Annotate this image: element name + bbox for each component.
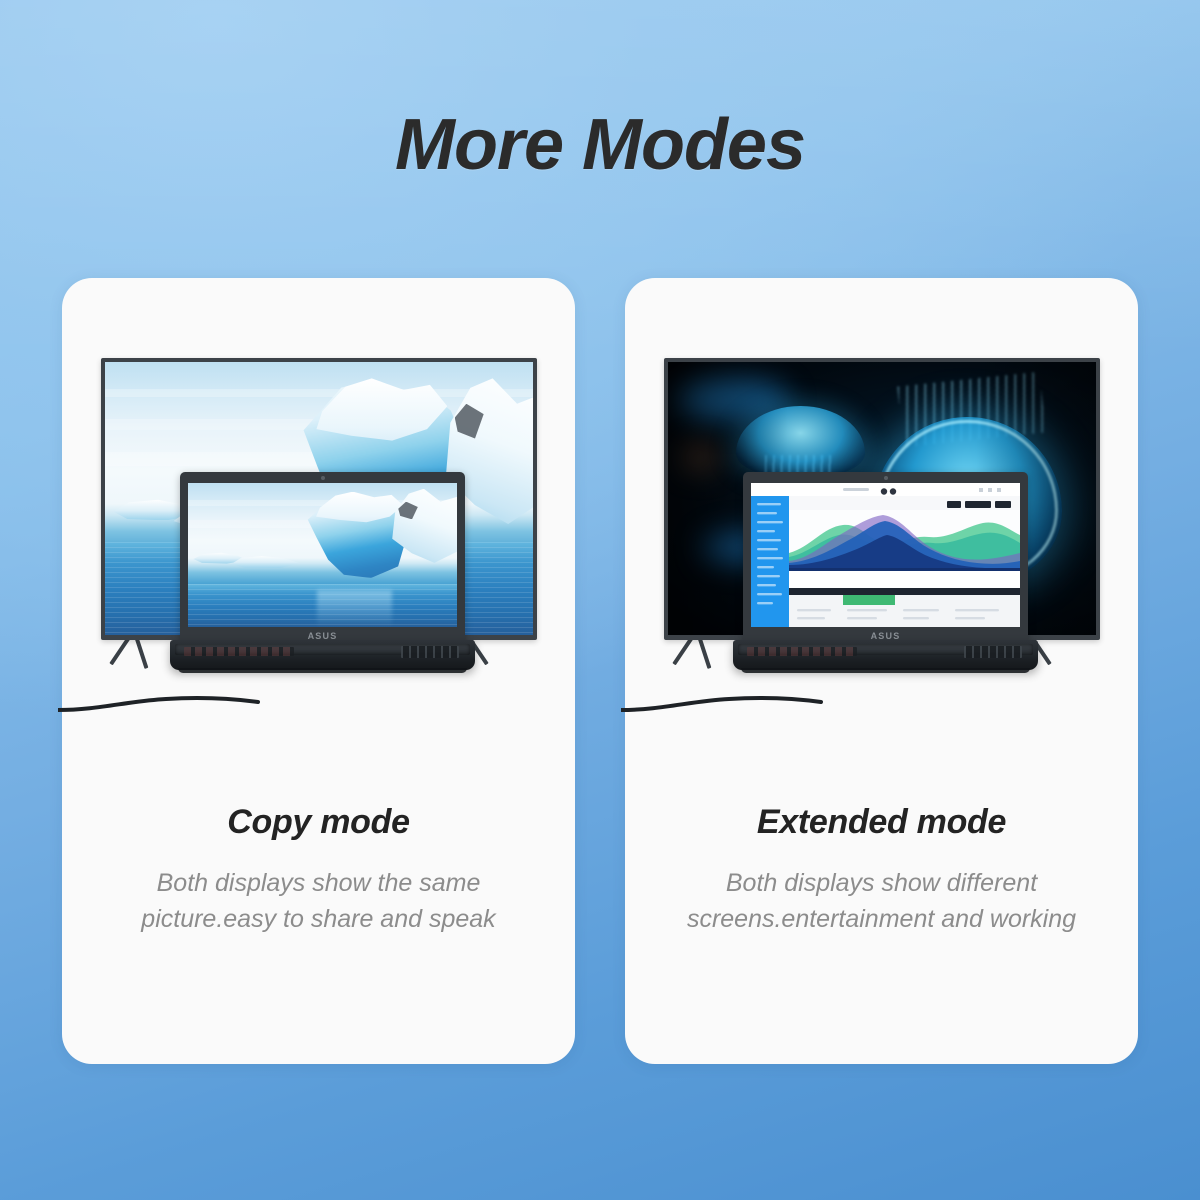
laptop-right: ASUS [733,472,1038,672]
laptop-base-right [733,640,1038,670]
webcam-icon [321,476,325,480]
laptop-lid-left: ASUS [180,472,465,644]
keyboard-area-right [747,647,857,656]
vent-grille-right [964,646,1022,658]
webcam-icon [884,476,888,480]
copy-mode-card[interactable]: ASUS Copy mode Both displays show the sa… [62,278,575,1064]
hdmi-cable-left [58,688,288,718]
hdmi-cable-right [621,688,851,718]
keyboard-area-left [184,647,294,656]
extended-mode-title: Extended mode [625,803,1138,842]
extended-mode-description: Both displays show different screens.ent… [625,866,1138,937]
laptop-lid-right: ASUS [743,472,1028,644]
extended-mode-card[interactable]: ASUS Extended mode Both displays show di… [625,278,1138,1064]
page-title: More Modes [0,104,1200,186]
extended-mode-illustration: ASUS [625,278,1138,778]
tv-leg-left-inner [134,635,148,669]
vent-grille-left [401,646,459,658]
copy-mode-description: Both displays show the same picture.easy… [62,866,575,937]
modes-card-row: ASUS Copy mode Both displays show the sa… [0,278,1200,1068]
dashboard-screen [751,483,1020,627]
laptop-screen-dashboard [751,483,1020,627]
iceberg-scene-mirror [188,483,457,627]
laptop-screen-iceberg [188,483,457,627]
copy-mode-title: Copy mode [62,803,575,842]
copy-mode-illustration: ASUS [62,278,575,778]
tv-leg-left-inner [697,635,711,669]
laptop-base-left [170,640,475,670]
laptop-left: ASUS [170,472,475,672]
